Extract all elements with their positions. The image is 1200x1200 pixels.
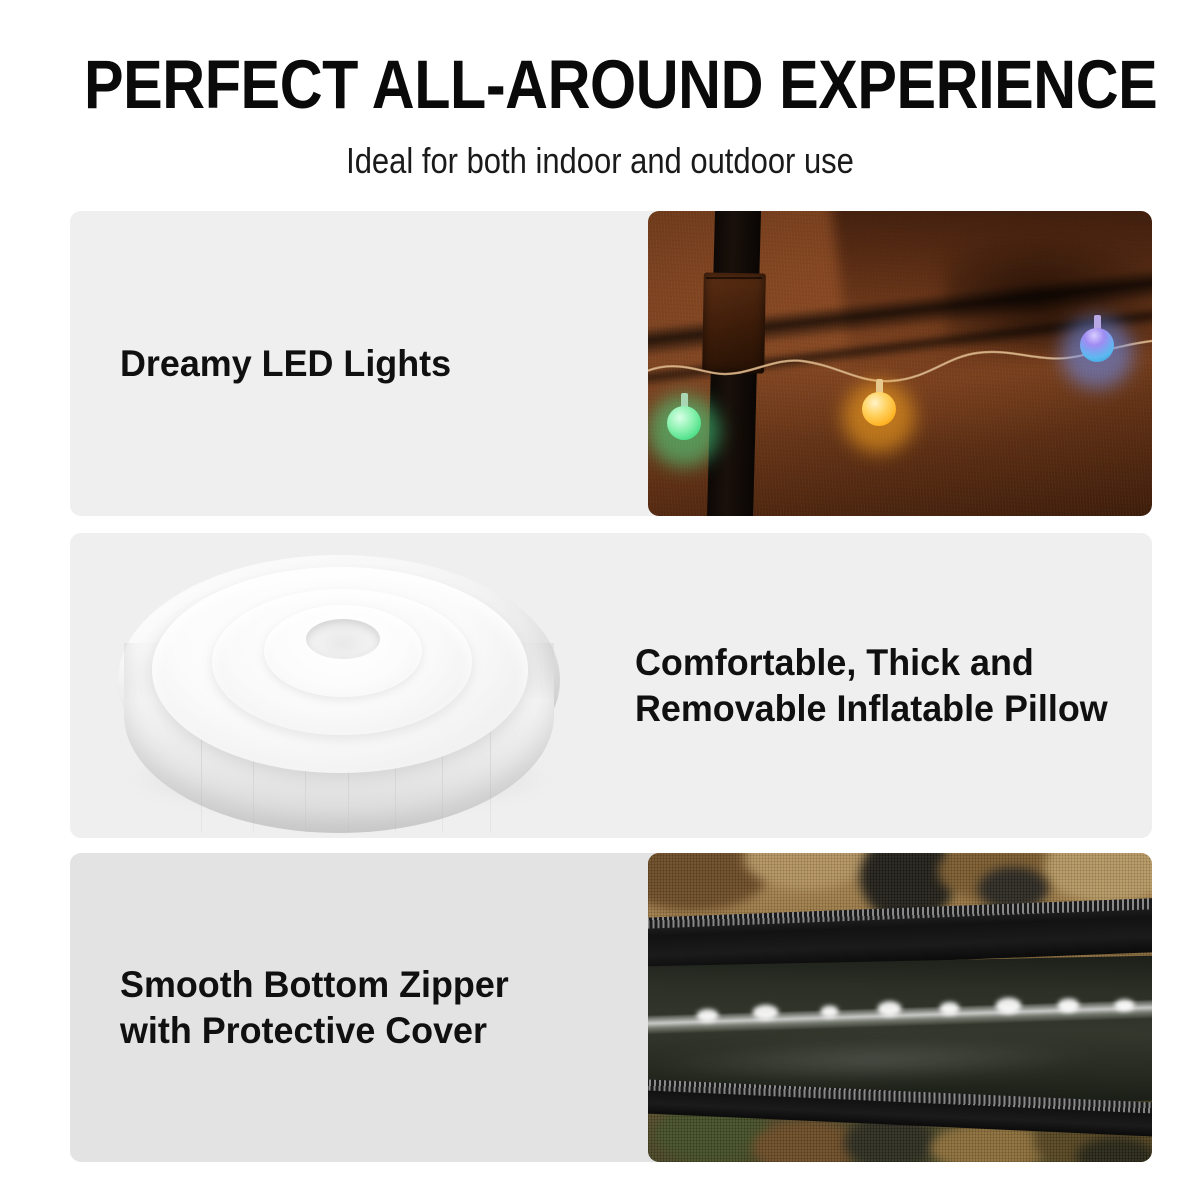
feature-label: Dreamy LED Lights [120, 341, 451, 386]
cover-highlight [877, 1001, 901, 1016]
cover-highlight [939, 1002, 959, 1015]
feature-panel-inflatable-pillow: Comfortable, Thick and Removable Inflata… [70, 533, 1152, 838]
tent-interior-backdrop [648, 211, 1152, 516]
interior-sheen [652, 1035, 1093, 1086]
feature-text-block: Comfortable, Thick and Removable Inflata… [610, 533, 1152, 838]
feature-label: Smooth Bottom Zipper with Protective Cov… [120, 962, 509, 1052]
page-title: PERFECT ALL-AROUND EXPERIENCE [84, 50, 1116, 119]
strap-buckle-seam [706, 277, 762, 279]
feature-panel-bottom-zipper: Smooth Bottom Zipper with Protective Cov… [70, 853, 1152, 1162]
pillow-illustration [108, 547, 568, 825]
bulb-globe [1080, 328, 1114, 362]
pillow-center-dimple [306, 619, 380, 659]
bulb-globe [862, 392, 896, 426]
feature-label-line: Comfortable, Thick and [635, 640, 1108, 685]
marketing-infographic-page: PERFECT ALL-AROUND EXPERIENCE Ideal for … [0, 0, 1200, 1200]
cover-highlight [1114, 999, 1134, 1011]
led-string-lights-photo [648, 211, 1152, 516]
header: PERFECT ALL-AROUND EXPERIENCE Ideal for … [0, 0, 1200, 179]
pillow-backdrop [70, 533, 610, 838]
feature-panel-led-lights: Dreamy LED Lights [70, 211, 1152, 516]
inflatable-pillow-photo [70, 533, 610, 838]
camo-zipper-closeup [648, 853, 1152, 1162]
feature-text-block: Smooth Bottom Zipper with Protective Cov… [70, 853, 648, 1162]
bulb-globe [667, 406, 701, 440]
feature-label-line: Removable Inflatable Pillow [635, 686, 1108, 731]
feature-text-block: Dreamy LED Lights [70, 211, 648, 516]
feature-label-line: with Protective Cover [120, 1008, 509, 1053]
page-subtitle: Ideal for both indoor and outdoor use [84, 143, 1116, 179]
bottom-zipper-photo [648, 853, 1152, 1162]
feature-label-line: Dreamy LED Lights [120, 341, 451, 386]
feature-label: Comfortable, Thick and Removable Inflata… [635, 640, 1108, 730]
feature-label-line: Smooth Bottom Zipper [120, 962, 509, 1007]
